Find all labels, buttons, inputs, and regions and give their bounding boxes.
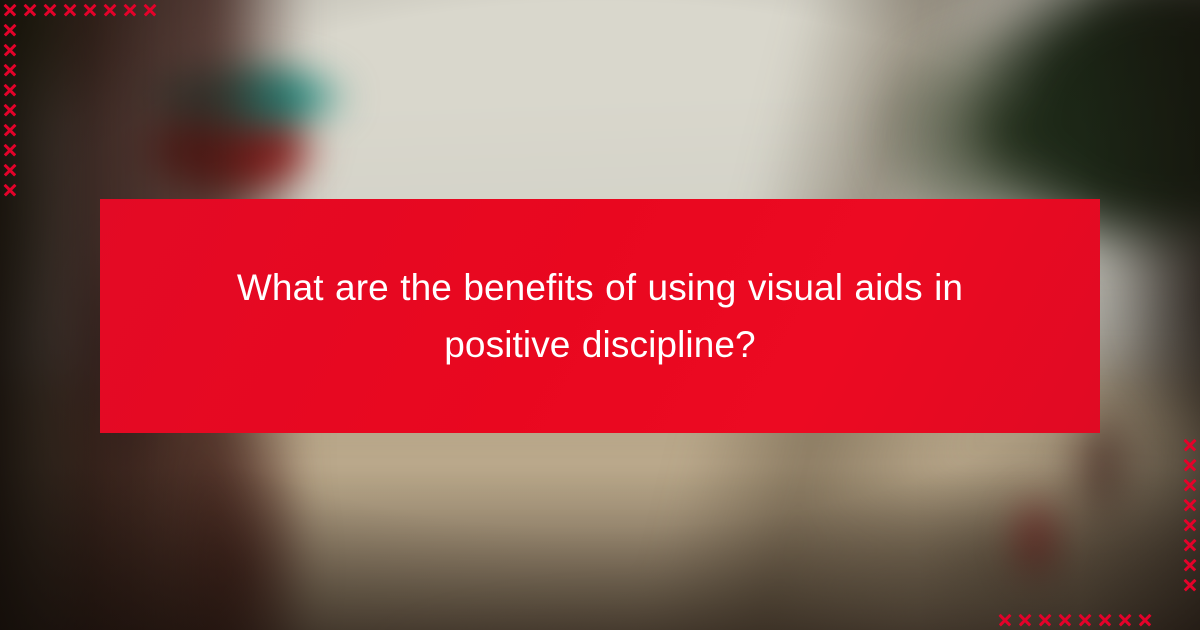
question-banner: What are the benefits of using visual ai…	[100, 199, 1100, 433]
question-text: What are the benefits of using visual ai…	[220, 259, 980, 373]
question-card: What are the benefits of using visual ai…	[0, 0, 1200, 630]
